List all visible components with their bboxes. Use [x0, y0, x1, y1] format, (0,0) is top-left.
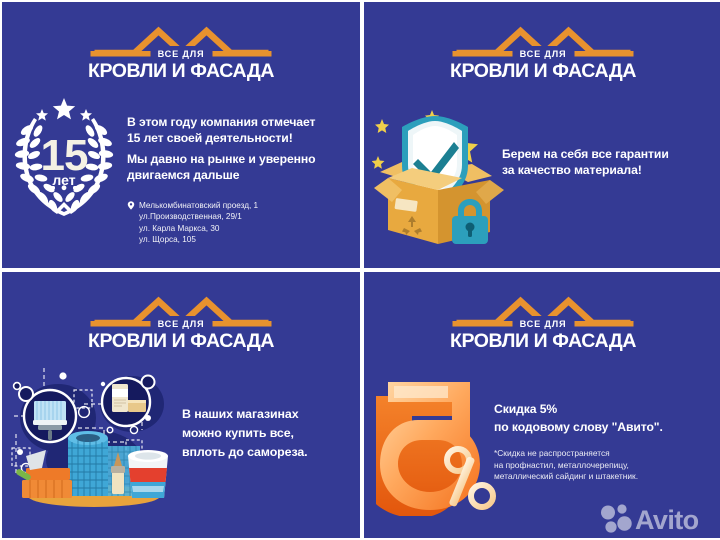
anniversary-emblem: 15 лет [8, 90, 120, 222]
assortment-headline: В наших магазинах можно купить все, впло… [182, 405, 360, 463]
logo-tagline: ВСЕ ДЛЯ [158, 319, 205, 329]
brand-logo: ВСЕ ДЛЯ КРОВЛИ И ФАСАДА [79, 290, 284, 352]
headline-line-1: В наших магазинах [182, 405, 360, 424]
headline-line-1: Скидка 5% [494, 400, 720, 418]
disclaimer-line: на профнастил, металлочерепицу, [494, 460, 720, 472]
headline-line-2: за качество материала! [502, 162, 720, 178]
address-text: ул. Карла Маркса, 30 [139, 224, 219, 233]
headline-line-4: двигаемся дальше [127, 168, 357, 184]
discount-headline: Скидка 5% по кодовому слову "Авито". [494, 400, 720, 436]
panel-assortment: ВСЕ ДЛЯ КРОВЛИ И ФАСАДА [2, 272, 360, 538]
avito-dots-icon [601, 504, 632, 532]
anniversary-headline: В этом году компания отмечает 15 лет сво… [127, 115, 357, 183]
disclaimer-line: *Скидка не распространяется [494, 448, 720, 460]
logo-title: КРОВЛИ И ФАСАДА [88, 60, 274, 82]
paint-supplies-icon [8, 356, 176, 508]
panel-anniversary: ВСЕ ДЛЯ КРОВЛИ И ФАСАДА [2, 2, 360, 268]
headline-line-2: можно купить все, [182, 424, 360, 443]
address-line: ул. Щорса, 105 [127, 234, 352, 245]
brand-logo: ВСЕ ДЛЯ КРОВЛИ И ФАСАДА [79, 20, 284, 82]
guarantee-headline: Берем на себя все гарантии за качество м… [502, 146, 720, 178]
five-percent-3d-icon [368, 364, 516, 516]
logo-title: КРОВЛИ И ФАСАДА [450, 330, 636, 352]
address-line: Мелькомбинатовский проезд, 1 [127, 200, 352, 211]
avito-watermark: Avito [598, 500, 716, 536]
map-pin-icon [127, 201, 135, 210]
panel-guarantee: ВСЕ ДЛЯ КРОВЛИ И ФАСАДА [364, 2, 720, 268]
headline-line-3: Мы давно на рынке и уверенно [127, 152, 357, 168]
headline-line-1: В этом году компания отмечает [127, 115, 357, 131]
headline-line-1: Берем на себя все гарантии [502, 146, 720, 162]
address-text: ул. Щорса, 105 [139, 235, 196, 244]
discount-disclaimer: *Скидка не распространяется на профнасти… [494, 448, 720, 483]
brand-logo: ВСЕ ДЛЯ КРОВЛИ И ФАСАДА [441, 290, 646, 352]
shield-in-box-icon [372, 94, 507, 249]
logo-title: КРОВЛИ И ФАСАДА [450, 60, 636, 82]
three-stars-icon [36, 98, 92, 121]
logo-tagline: ВСЕ ДЛЯ [158, 49, 205, 59]
logo-tagline: ВСЕ ДЛЯ [520, 49, 567, 59]
address-text: Мелькомбинатовский проезд, 1 [139, 201, 258, 210]
brand-logo: ВСЕ ДЛЯ КРОВЛИ И ФАСАДА [441, 20, 646, 82]
headline-line-3: вплоть до самореза. [182, 443, 360, 462]
emblem-unit: лет [52, 172, 75, 188]
image-collage: ВСЕ ДЛЯ КРОВЛИ И ФАСАДА [0, 0, 720, 540]
headline-line-2: по кодовому слову "Авито". [494, 418, 720, 436]
address-line: ул. Карла Маркса, 30 [127, 223, 352, 234]
avito-wordmark: Avito [635, 505, 699, 535]
disclaimer-line: металлический сайдинг и штакетник. [494, 471, 720, 483]
logo-title: КРОВЛИ И ФАСАДА [88, 330, 274, 352]
panel-discount: ВСЕ ДЛЯ КРОВЛИ И ФАСАДА [364, 272, 720, 538]
address-list: Мелькомбинатовский проезд, 1 ул.Производ… [127, 200, 352, 246]
address-line: ул.Производственная, 29/1 [127, 211, 352, 222]
logo-tagline: ВСЕ ДЛЯ [520, 319, 567, 329]
address-text: ул.Производственная, 29/1 [139, 212, 242, 221]
headline-line-2: 15 лет своей деятельности! [127, 131, 357, 147]
